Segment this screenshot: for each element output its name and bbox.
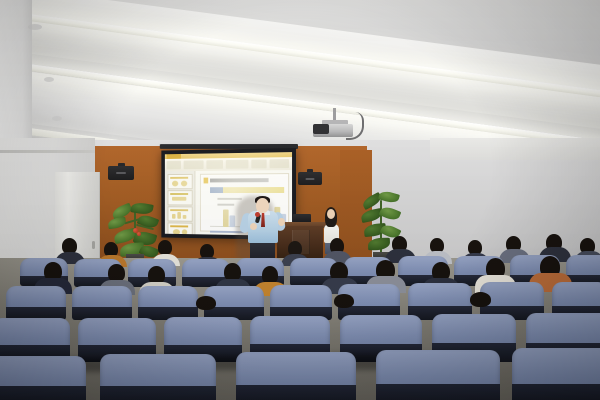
- attendee-head: [334, 294, 354, 308]
- ceiling-left-return: [0, 0, 32, 152]
- seat[interactable]: [0, 356, 86, 400]
- seat[interactable]: [236, 352, 356, 400]
- slide-thumbnail[interactable]: [168, 222, 193, 236]
- slide-thumbnail[interactable]: [168, 206, 193, 221]
- slide-highlight-band: [210, 187, 284, 193]
- slide-thumbnail[interactable]: [168, 174, 193, 189]
- slide-title: [210, 178, 269, 182]
- right-ceiling-corner: [430, 138, 600, 160]
- attendee-head: [196, 296, 216, 310]
- conference-room-photo: Conference room presentation A seated au…: [0, 0, 600, 400]
- ceiling-vent-icon: [28, 24, 42, 30]
- seat[interactable]: [6, 286, 66, 320]
- seat[interactable]: [72, 286, 132, 320]
- seat[interactable]: [100, 354, 216, 400]
- seat[interactable]: [270, 285, 332, 320]
- microphone-head-icon: [255, 212, 260, 217]
- door-handle-icon[interactable]: [92, 241, 95, 249]
- ceiling-vent-icon: [52, 116, 62, 121]
- ceiling-vent-icon: [44, 77, 54, 82]
- presenter-hand-left: [250, 223, 257, 230]
- chart-bar: [230, 215, 236, 227]
- left-wall-trim: [0, 150, 95, 153]
- attendee-head: [158, 240, 172, 255]
- seat[interactable]: [512, 348, 600, 400]
- slide-thumbnail[interactable]: [168, 190, 193, 205]
- app-thumbnail-pane[interactable]: [165, 171, 196, 234]
- attendee-head: [470, 292, 491, 307]
- presenter-head: [256, 198, 269, 213]
- seat[interactable]: [138, 286, 198, 320]
- projector-lens-icon: [313, 124, 329, 134]
- seat[interactable]: [376, 350, 500, 400]
- assistant-head: [327, 209, 335, 219]
- chart-bar: [223, 210, 229, 228]
- slide-title-accent: [204, 178, 209, 184]
- ceiling: [0, 0, 600, 152]
- presenter-hand-right: [278, 218, 285, 226]
- flower-icon: [137, 232, 141, 236]
